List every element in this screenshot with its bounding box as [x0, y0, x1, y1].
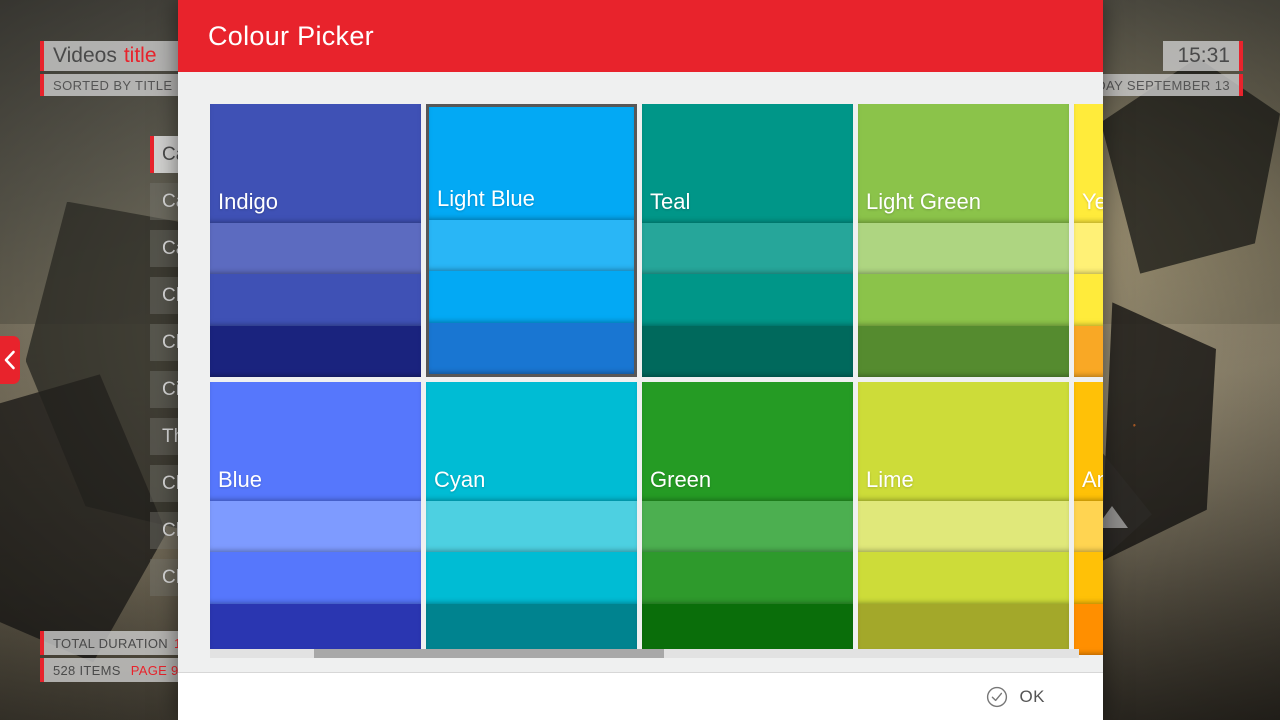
colour-swatch-amber[interactable]: Amber: [1074, 382, 1103, 655]
swatch-primary[interactable]: Light Blue: [429, 107, 634, 220]
page-title-main: Videos: [53, 44, 117, 68]
colour-picker-dialog: Colour Picker IndigoLight BlueTealLight …: [178, 0, 1103, 720]
swatch-shade[interactable]: [210, 501, 421, 552]
swatch-primary[interactable]: Teal: [642, 104, 853, 223]
dialog-header: Colour Picker: [178, 0, 1103, 72]
swatch-shade[interactable]: [1074, 552, 1103, 603]
colour-swatch-teal[interactable]: Teal: [642, 104, 853, 377]
item-count-bar: 528 ITEMS PAGE 9/53: [40, 658, 200, 682]
swatch-label: Yellow: [1082, 189, 1103, 215]
swatch-label: Light Blue: [437, 186, 535, 212]
swatch-shade[interactable]: [858, 552, 1069, 603]
dialog-footer: OK: [178, 673, 1103, 720]
swatch-shade[interactable]: [858, 604, 1069, 655]
swatch-primary[interactable]: Amber: [1074, 382, 1103, 501]
swatch-label: Light Green: [866, 189, 981, 215]
colour-swatch-green[interactable]: Green: [642, 382, 853, 655]
colour-swatch-indigo[interactable]: Indigo: [210, 104, 421, 377]
swatch-shade[interactable]: [426, 604, 637, 655]
swatch-shade[interactable]: [429, 323, 634, 374]
dialog-body: IndigoLight BlueTealLight GreenYellowBlu…: [178, 72, 1103, 673]
swatch-shade[interactable]: [642, 274, 853, 325]
swatch-shade[interactable]: [858, 501, 1069, 552]
colour-swatch-lime[interactable]: Lime: [858, 382, 1069, 655]
swatch-shade[interactable]: [210, 552, 421, 603]
swatch-primary[interactable]: Blue: [210, 382, 421, 501]
swatch-shade[interactable]: [642, 604, 853, 655]
scrollbar-thumb[interactable]: [314, 649, 664, 658]
swatch-shade[interactable]: [1074, 223, 1103, 274]
page-title: Videos title: [40, 41, 180, 71]
swatch-label: Teal: [650, 189, 690, 215]
swatch-shade[interactable]: [642, 223, 853, 274]
swatch-shade[interactable]: [642, 501, 853, 552]
swatch-shade[interactable]: [426, 501, 637, 552]
swatch-label: Blue: [218, 467, 262, 493]
swatch-primary[interactable]: Light Green: [858, 104, 1069, 223]
swatch-shade[interactable]: [1074, 501, 1103, 552]
item-count: 528 ITEMS: [53, 663, 121, 678]
swatch-label: Green: [650, 467, 711, 493]
swatch-shade[interactable]: [426, 552, 637, 603]
colour-swatch-yellow[interactable]: Yellow: [1074, 104, 1103, 377]
swatch-primary[interactable]: Lime: [858, 382, 1069, 501]
swatch-shade[interactable]: [210, 274, 421, 325]
total-duration-label: TOTAL DURATION: [53, 636, 168, 651]
colour-grid[interactable]: IndigoLight BlueTealLight GreenYellowBlu…: [210, 104, 1103, 655]
colour-swatch-light-green[interactable]: Light Green: [858, 104, 1069, 377]
dialog-title: Colour Picker: [208, 21, 374, 52]
colour-swatch-light-blue[interactable]: Light Blue: [426, 104, 637, 377]
horizontal-scrollbar[interactable]: [210, 649, 1079, 658]
swatch-label: Indigo: [218, 189, 278, 215]
swatch-primary[interactable]: Indigo: [210, 104, 421, 223]
swatch-shade[interactable]: [642, 552, 853, 603]
swatch-shade[interactable]: [1074, 604, 1103, 655]
swatch-shade[interactable]: [642, 326, 853, 377]
swatch-primary[interactable]: Green: [642, 382, 853, 501]
swatch-label: Amber: [1082, 467, 1103, 493]
colour-swatch-blue[interactable]: Blue: [210, 382, 421, 655]
swatch-shade[interactable]: [429, 271, 634, 322]
swatch-shade[interactable]: [1074, 274, 1103, 325]
swatch-shade[interactable]: [210, 326, 421, 377]
ok-button[interactable]: OK: [986, 686, 1045, 708]
swatch-label: Lime: [866, 467, 914, 493]
clock: 15:31: [1163, 41, 1243, 71]
swatch-shade[interactable]: [858, 326, 1069, 377]
colour-row: IndigoLight BlueTealLight GreenYellow: [210, 104, 1103, 377]
colour-swatch-cyan[interactable]: Cyan: [426, 382, 637, 655]
swatch-shade[interactable]: [1074, 326, 1103, 377]
ok-button-label: OK: [1019, 687, 1045, 707]
swatch-shade[interactable]: [858, 274, 1069, 325]
page-title-accent: title: [124, 44, 157, 68]
colour-row: BlueCyanGreenLimeAmber: [210, 382, 1103, 655]
sort-indicator[interactable]: SORTED BY TITLE: [40, 74, 190, 96]
swatch-shade[interactable]: [429, 220, 634, 271]
total-duration: TOTAL DURATION 101: [40, 631, 200, 655]
swatch-shade[interactable]: [210, 223, 421, 274]
swatch-shade[interactable]: [858, 223, 1069, 274]
check-circle-icon: [986, 686, 1008, 708]
swatch-primary[interactable]: Cyan: [426, 382, 637, 501]
chevron-left-icon: [3, 350, 16, 370]
swatch-label: Cyan: [434, 467, 485, 493]
swatch-shade[interactable]: [210, 604, 421, 655]
sidebar-expand-button[interactable]: [0, 336, 20, 384]
swatch-primary[interactable]: Yellow: [1074, 104, 1103, 223]
